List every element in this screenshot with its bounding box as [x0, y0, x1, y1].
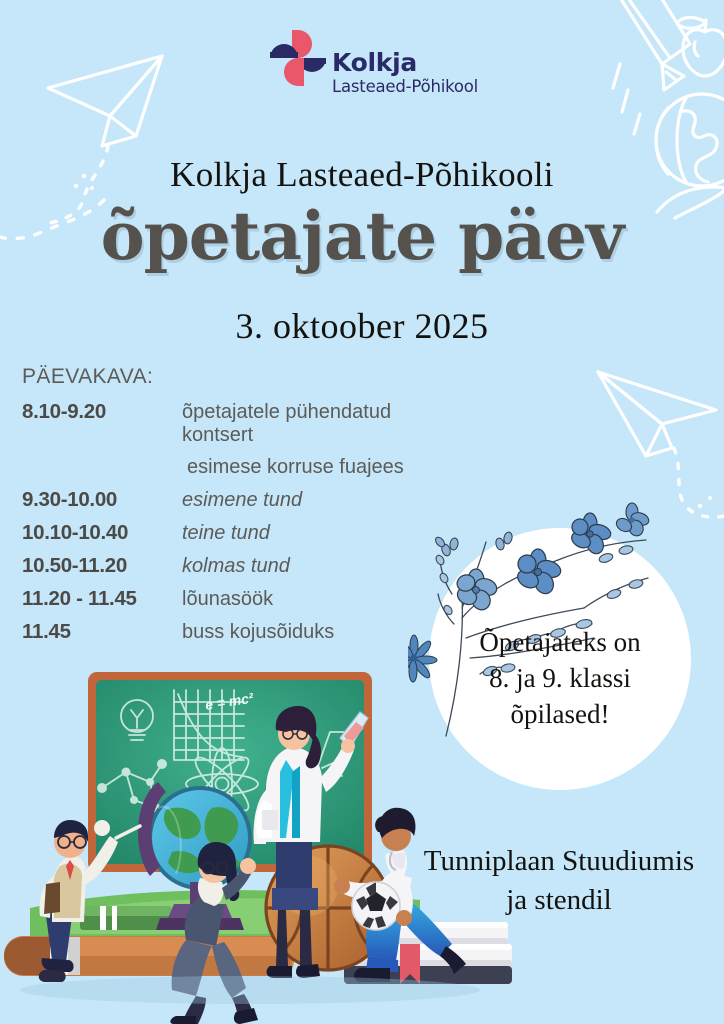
- schedule-row: 8.10-9.20 õpetajatele pühendatud kontser…: [22, 400, 442, 447]
- schedule-time: 11.20 - 11.45: [22, 587, 182, 611]
- school-logo: Kolkja Lasteaed-Põhikool: [268, 28, 478, 97]
- paper-plane-mid-right-icon: [590, 348, 724, 538]
- bottom-note-line-1: Tunniplaan Stuudiumis: [404, 842, 714, 881]
- header-subtitle: Kolkja Lasteaed-Põhikooli: [0, 155, 724, 195]
- schedule-row: 10.10-10.40 teine tund: [22, 521, 442, 545]
- schedule-desc: lõunasöök: [182, 588, 273, 611]
- schedule-row: esimese korruse fuajees: [22, 456, 442, 479]
- schedule-row: 10.50-11.20 kolmas tund: [22, 554, 442, 578]
- kolkja-pinwheel-logo-icon: [268, 28, 328, 90]
- bottom-note-line-2: ja stendil: [404, 881, 714, 920]
- schedule-time: 10.10-10.40: [22, 521, 182, 545]
- schedule-desc: esimese korruse fuajees: [187, 456, 404, 479]
- schedule-row: 11.20 - 11.45 lõunasöök: [22, 587, 442, 611]
- logo-school-subtitle: Lasteaed-Põhikool: [332, 78, 478, 97]
- schedule-desc: teine tund: [182, 522, 270, 545]
- pencil-outline-icon: [598, 0, 724, 124]
- schedule-heading: PÄEVAKAVA:: [22, 365, 442, 389]
- schedule-row: 9.30-10.00 esimene tund: [22, 488, 442, 512]
- callout-line-1: Õpetajateks on: [440, 625, 680, 661]
- schedule-time: 8.10-9.20: [22, 400, 182, 424]
- schedule-desc: õpetajatele pühendatud kontsert: [182, 401, 442, 447]
- schedule-desc: kolmas tund: [182, 555, 290, 578]
- schedule-time: 11.45: [22, 620, 182, 644]
- poster-canvas: Kolkja Lasteaed-Põhikool Kolkja Lasteaed…: [0, 0, 724, 1024]
- schedule-row: 11.45 buss kojusõiduks: [22, 620, 442, 644]
- schedule-desc: esimene tund: [182, 489, 302, 512]
- schedule-time: 10.50-11.20: [22, 554, 182, 578]
- apple-outline-icon: [665, 8, 724, 88]
- schedule-block: PÄEVAKAVA: 8.10-9.20 õpetajatele pühenda…: [22, 365, 442, 653]
- logo-school-name: Kolkja: [332, 50, 478, 75]
- bottom-note: Tunniplaan Stuudiumis ja stendil: [404, 842, 714, 919]
- schedule-time: 9.30-10.00: [22, 488, 182, 512]
- schedule-desc: buss kojusõiduks: [182, 621, 334, 644]
- page-title: õpetajate päev: [0, 197, 724, 275]
- event-date: 3. oktoober 2025: [0, 305, 724, 347]
